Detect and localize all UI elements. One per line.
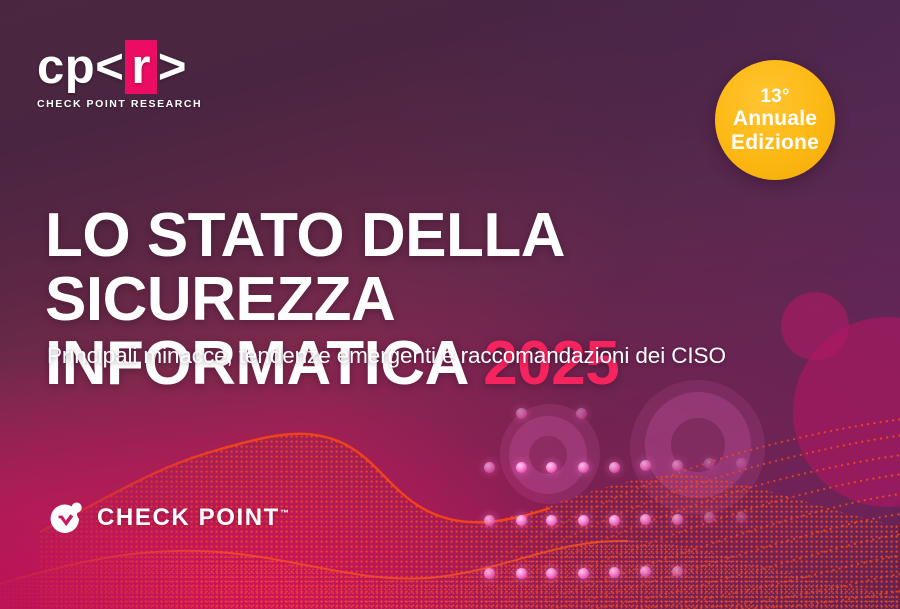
cpr-logo-bracket-close: > (158, 40, 187, 94)
cpr-logo-bracket-open: < (95, 40, 124, 94)
edition-badge-annual: Annuale (733, 107, 817, 131)
pink-ring-small (509, 416, 587, 494)
page-subtitle: Principali minacce, tendenze emergenti e… (47, 343, 867, 369)
cpr-logo-letter-r: r (125, 40, 157, 94)
page-title-line-1: LO STATO DELLA SICUREZZA (45, 204, 860, 332)
cpr-logo[interactable]: cp<r> CHECK POINT RESEARCH (37, 40, 165, 110)
check-point-logo-mark (46, 498, 86, 538)
cpr-logo-cp: cp (37, 40, 95, 94)
edition-badge: 13° Annuale Edizione (715, 60, 835, 180)
magenta-circle-soft-right (630, 380, 765, 515)
check-point-wordmark-text: CHECK POINT (97, 504, 280, 531)
edition-badge-edition: Edizione (731, 131, 819, 155)
cpr-logo-tagline: CHECK POINT RESEARCH (37, 98, 165, 110)
check-point-glyph (46, 498, 86, 538)
cpr-logo-mark: cp<r> (37, 40, 165, 94)
report-cover: cp<r> CHECK POINT RESEARCH 13° Annuale E… (0, 0, 900, 609)
edition-badge-number: 13° (760, 86, 789, 107)
magenta-circle-soft-left (500, 404, 600, 504)
check-point-logo[interactable]: CHECK POINT™ (46, 498, 289, 538)
check-point-wordmark: CHECK POINT™ (97, 504, 289, 532)
trademark-symbol: ™ (280, 508, 289, 518)
pink-ring-large (645, 392, 751, 498)
